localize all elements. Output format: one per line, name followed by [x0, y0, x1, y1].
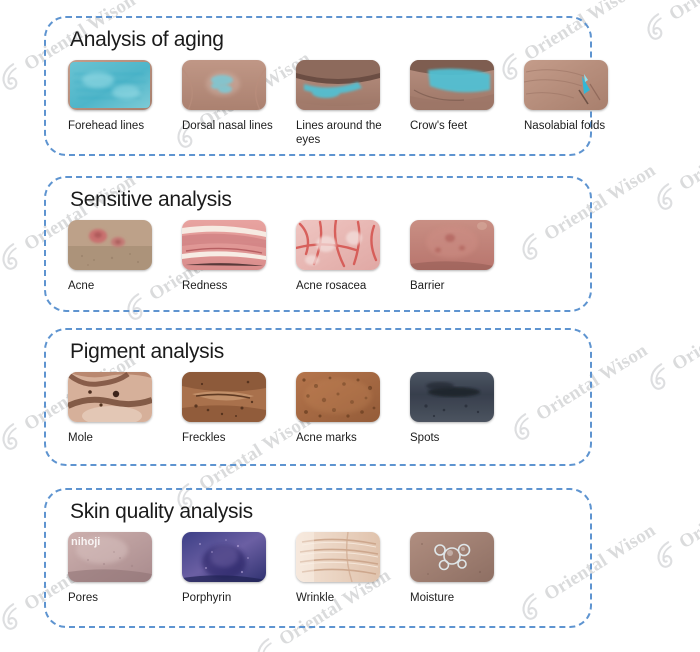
list-item-label: Pores [68, 591, 160, 605]
list-item-label: Moisture [410, 591, 502, 605]
list-item[interactable]: Acne rosacea [296, 220, 388, 293]
thumb-nasolabial-folds[interactable] [524, 60, 608, 110]
watermark-text: Oriental Wison [675, 110, 700, 196]
watermark-text: Oriental Wison [665, 0, 700, 26]
list-item[interactable]: nihoji Pores [68, 532, 160, 605]
thumb-crows-feet[interactable] [410, 60, 494, 110]
section-title: Sensitive analysis [46, 178, 590, 212]
thumb-freckles[interactable] [182, 372, 266, 422]
list-item[interactable]: Redness [182, 220, 274, 293]
list-item-label: Lines around the eyes [296, 119, 388, 148]
wave-logo-icon [648, 536, 684, 572]
thumb-spots[interactable] [410, 372, 494, 422]
thumb-barrier[interactable] [410, 220, 494, 270]
list-item-label: Wrinkle [296, 591, 388, 605]
list-item[interactable]: Acne marks [296, 372, 388, 445]
list-item[interactable]: Moisture [410, 532, 502, 605]
list-item-label: Nasolabial folds [524, 119, 616, 133]
list-item-label: Forehead lines [68, 119, 160, 133]
section-title: Pigment analysis [46, 330, 590, 364]
list-item[interactable]: Crow's feet [410, 60, 502, 148]
wave-logo-icon [648, 178, 684, 214]
watermark: Oriental Wison [648, 108, 700, 214]
thumb-porphyrin[interactable] [182, 532, 266, 582]
list-item[interactable]: Freckles [182, 372, 274, 445]
section-skin-quality-analysis: Skin quality analysis nihoji Por [44, 488, 592, 628]
wave-logo-icon [0, 238, 29, 274]
list-item-label: Spots [410, 431, 502, 445]
list-item[interactable]: Mole [68, 372, 160, 445]
thumb-wrinkle[interactable] [296, 532, 380, 582]
section-pigment-analysis: Pigment analysis Mole [44, 328, 592, 466]
thumb-redness[interactable] [182, 220, 266, 270]
thumb-acne[interactable] [68, 220, 152, 270]
wave-logo-icon [641, 358, 677, 394]
section-items: Mole [46, 364, 590, 445]
watermark: Oriental Wison [648, 466, 700, 572]
wave-logo-icon [248, 633, 284, 652]
list-item[interactable]: Porphyrin [182, 532, 274, 605]
list-item[interactable]: Forehead lines [68, 60, 160, 148]
thumb-forehead-lines[interactable] [68, 60, 152, 110]
section-analysis-of-aging: Analysis of aging Forehead line [44, 16, 592, 156]
list-item-label: Acne [68, 279, 160, 293]
list-item[interactable]: Wrinkle [296, 532, 388, 605]
list-item-label: Acne marks [296, 431, 388, 445]
list-item-label: Acne rosacea [296, 279, 388, 293]
wave-logo-icon [0, 58, 29, 94]
list-item-label: Redness [182, 279, 274, 293]
thumb-dorsal-nasal-lines[interactable] [182, 60, 266, 110]
list-item-label: Crow's feet [410, 119, 502, 133]
watermark: Oriental Wison [641, 288, 700, 394]
section-title: Analysis of aging [46, 18, 590, 52]
wave-logo-icon [0, 598, 29, 634]
wave-logo-icon [638, 8, 674, 44]
section-items: Forehead lines [46, 52, 590, 148]
list-item[interactable]: Dorsal nasal lines [182, 60, 274, 148]
watermark-text: Oriental Wison [668, 290, 700, 376]
list-item[interactable]: Spots [410, 372, 502, 445]
list-item[interactable]: Acne [68, 220, 160, 293]
thumb-lines-around-eyes[interactable] [296, 60, 380, 110]
list-item-label: Mole [68, 431, 160, 445]
list-item[interactable]: Barrier [410, 220, 502, 293]
list-item[interactable]: Nasolabial folds [524, 60, 616, 148]
list-item-label: Freckles [182, 431, 274, 445]
section-items: Acne Redness [46, 212, 590, 293]
watermark-text: Oriental Wison [675, 468, 700, 554]
section-items: nihoji Pores [46, 524, 590, 605]
list-item-label: Dorsal nasal lines [182, 119, 274, 133]
list-item[interactable]: Lines around the eyes [296, 60, 388, 148]
list-item-label: Barrier [410, 279, 502, 293]
thumb-acne-rosacea[interactable] [296, 220, 380, 270]
section-title: Skin quality analysis [46, 490, 590, 524]
list-item-label: Porphyrin [182, 591, 274, 605]
thumb-mole[interactable] [68, 372, 152, 422]
section-sensitive-analysis: Sensitive analysis [44, 176, 592, 312]
thumb-moisture[interactable] [410, 532, 494, 582]
thumb-pores[interactable]: nihoji [68, 532, 152, 582]
thumb-acne-marks[interactable] [296, 372, 380, 422]
watermark: Oriental Wison [638, 0, 700, 44]
svg-text:nihoji: nihoji [71, 536, 100, 548]
wave-logo-icon [0, 418, 29, 454]
